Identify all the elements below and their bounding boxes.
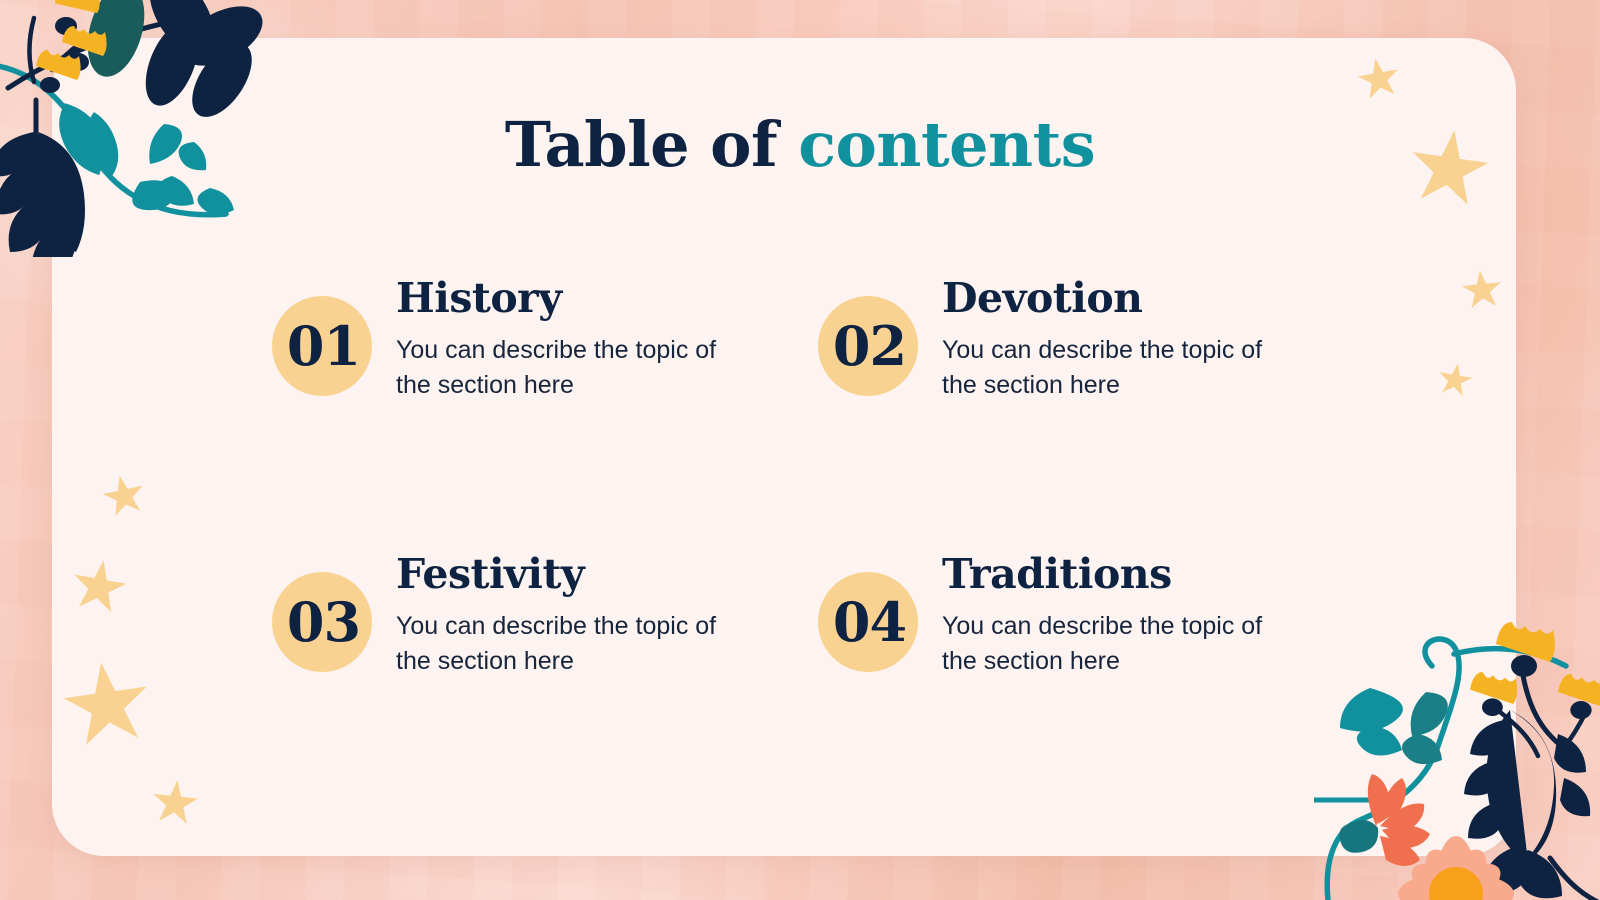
item-title: Traditions (942, 554, 1272, 595)
number-badge: 02 (818, 296, 918, 396)
item-title: Festivity (396, 554, 726, 595)
contents-item-04[interactable]: 04 Traditions You can describe the topic… (818, 554, 1332, 679)
contents-item-03[interactable]: 03 Festivity You can describe the topic … (272, 554, 818, 679)
item-number: 02 (833, 314, 906, 378)
contents-item-02[interactable]: 02 Devotion You can describe the topic o… (818, 278, 1332, 554)
title-text-primary: Table of (505, 108, 798, 181)
number-badge: 01 (272, 296, 372, 396)
title-text-accent: contents (798, 108, 1095, 181)
item-description: You can describe the topic of the sectio… (396, 609, 726, 679)
item-number: 01 (287, 314, 360, 378)
item-number: 03 (287, 590, 360, 654)
item-text-block: Devotion You can describe the topic of t… (942, 278, 1272, 403)
item-description: You can describe the topic of the sectio… (942, 333, 1272, 403)
page-title: Table of contents (0, 108, 1600, 181)
item-description: You can describe the topic of the sectio… (396, 333, 726, 403)
item-title: History (396, 278, 726, 319)
slide-canvas: Table of contents 01 History You can des… (0, 0, 1600, 900)
item-text-block: History You can describe the topic of th… (396, 278, 726, 403)
item-title: Devotion (942, 278, 1272, 319)
item-number: 04 (833, 590, 906, 654)
number-badge: 04 (818, 572, 918, 672)
number-badge: 03 (272, 572, 372, 672)
item-text-block: Festivity You can describe the topic of … (396, 554, 726, 679)
contents-list: 01 History You can describe the topic of… (272, 278, 1332, 679)
contents-item-01[interactable]: 01 History You can describe the topic of… (272, 278, 818, 554)
item-text-block: Traditions You can describe the topic of… (942, 554, 1272, 679)
item-description: You can describe the topic of the sectio… (942, 609, 1272, 679)
